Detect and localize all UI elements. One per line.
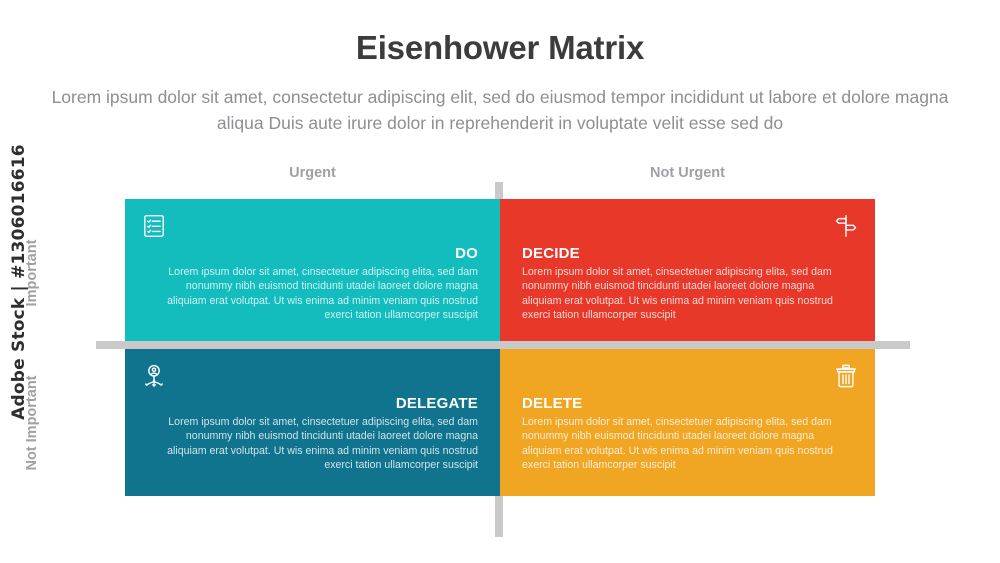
quadrant-heading: DELETE <box>522 395 853 412</box>
row-header-not-important: Not Important <box>24 348 40 498</box>
eisenhower-matrix-infographic: Adobe Stock | #1306016616 Eisenhower Mat… <box>0 0 1000 563</box>
quadrant-decide[interactable]: DECIDE Lorem ipsum dolor sit amet, cinse… <box>500 199 875 341</box>
quadrant-heading: DECIDE <box>522 245 853 262</box>
horizontal-divider <box>96 341 910 349</box>
page-subtitle: Lorem ipsum dolor sit amet, consectetur … <box>40 84 960 136</box>
quadrant-delegate[interactable]: DELEGATE Lorem ipsum dolor sit amet, cin… <box>125 349 500 496</box>
quadrant-do[interactable]: DO Lorem ipsum dolor sit amet, cinsectet… <box>125 199 500 341</box>
column-header-urgent: Urgent <box>125 165 500 181</box>
quadrant-body: Lorem ipsum dolor sit amet, cinsectetuer… <box>147 415 478 473</box>
column-header-not-urgent: Not Urgent <box>500 165 875 181</box>
quadrant-heading: DELEGATE <box>147 395 478 412</box>
trash-icon <box>833 363 859 389</box>
delegate-network-icon <box>141 363 167 389</box>
row-header-important: Important <box>24 198 40 348</box>
quadrant-body: Lorem ipsum dolor sit amet, cinsectetuer… <box>522 265 853 323</box>
signpost-icon <box>833 213 859 239</box>
checklist-icon <box>141 213 167 239</box>
quadrant-body: Lorem ipsum dolor sit amet, cinsectetuer… <box>147 265 478 323</box>
page-title: Eisenhower Matrix <box>0 29 1000 67</box>
quadrant-delete[interactable]: DELETE Lorem ipsum dolor sit amet, cinse… <box>500 349 875 496</box>
quadrant-body: Lorem ipsum dolor sit amet, cinsectetuer… <box>522 415 853 473</box>
quadrant-heading: DO <box>147 245 478 262</box>
